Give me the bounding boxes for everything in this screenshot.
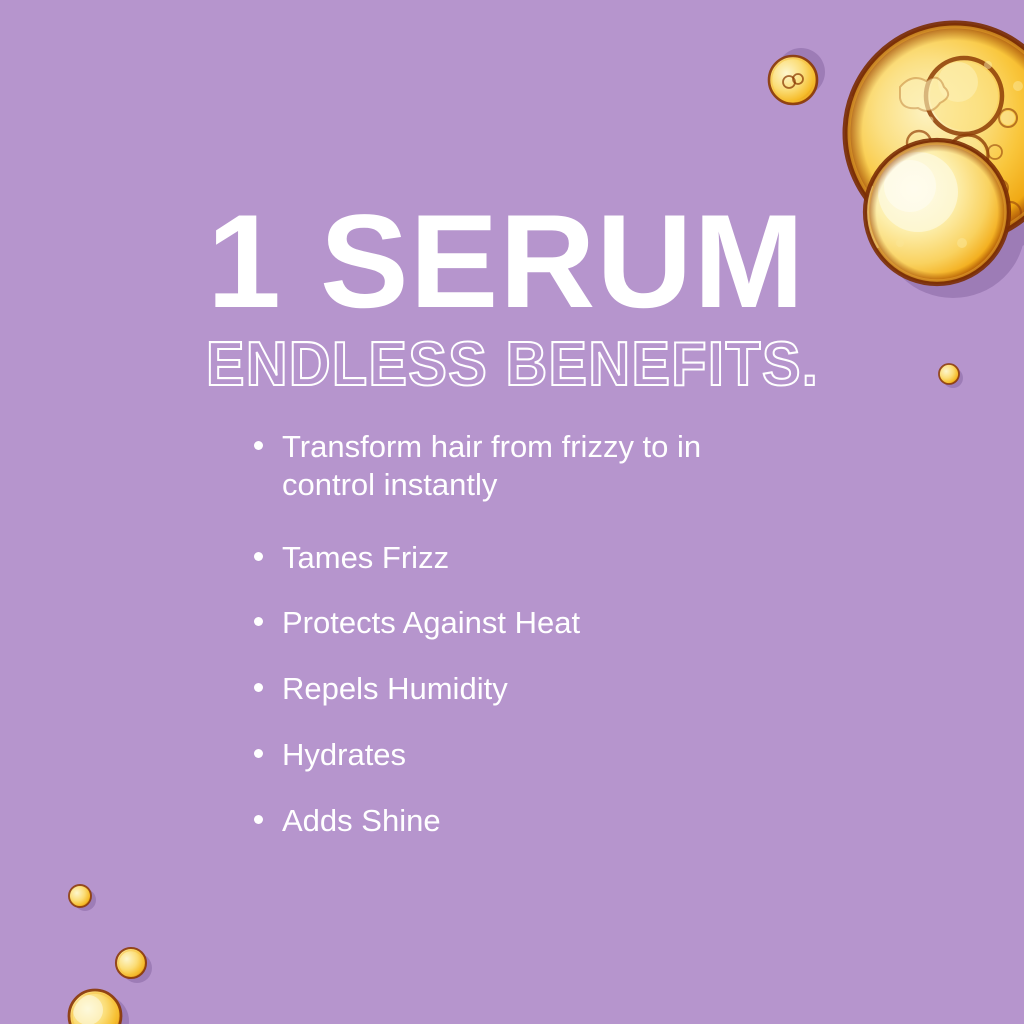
benefit-item-label: Protects Against Heat: [282, 605, 580, 640]
bullet-icon: [254, 441, 263, 450]
promo-banner: 1 SERUM ENDLESS BENEFITS. Transform hair…: [0, 0, 1024, 1024]
benefit-item: Adds Shine: [252, 802, 812, 840]
benefit-item-label: Repels Humidity: [282, 671, 508, 706]
bullet-icon: [254, 749, 263, 758]
benefit-item: Hydrates: [252, 736, 812, 774]
benefit-item-label: Hydrates: [282, 737, 406, 772]
benefit-item: Repels Humidity: [252, 670, 812, 708]
benefit-item-label: Adds Shine: [282, 803, 441, 838]
benefit-item-label: Transform hair from frizzy to in control…: [282, 429, 701, 502]
subheadline: ENDLESS BENEFITS.: [206, 334, 819, 396]
headline: 1 SERUM: [207, 196, 805, 329]
bullet-icon: [254, 617, 263, 626]
benefits-list: Transform hair from frizzy to in control…: [252, 428, 812, 840]
benefit-item: Tames Frizz: [252, 539, 812, 577]
benefit-item-label: Tames Frizz: [282, 540, 449, 575]
bullet-icon: [254, 815, 263, 824]
bullet-icon: [254, 552, 263, 561]
benefit-item: Transform hair from frizzy to in control…: [252, 428, 752, 504]
content-block: 1 SERUM ENDLESS BENEFITS. Transform hair…: [0, 0, 1024, 1024]
benefit-item: Protects Against Heat: [252, 604, 812, 642]
bullet-icon: [254, 683, 263, 692]
